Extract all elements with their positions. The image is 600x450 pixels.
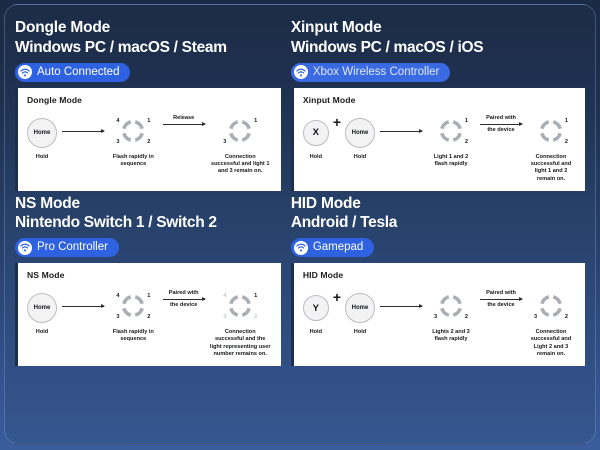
- app-frame: Dongle ModeWindows PC / macOS / SteamAut…: [4, 4, 596, 444]
- step-led-ring: 23Connection successful and Light 2 and …: [527, 290, 575, 359]
- wifi-icon: [294, 65, 308, 79]
- arrow-line: [480, 124, 522, 125]
- step-arrow: Paired withthe device: [478, 290, 524, 309]
- step-caption: Hold: [310, 154, 322, 161]
- panel-subtitle: Windows PC / macOS / iOS: [291, 38, 585, 57]
- step-sequence: HomeHold1234Flash rapidly in sequencePai…: [27, 290, 275, 359]
- connection-badge[interactable]: Gamepad: [291, 238, 375, 257]
- step-caption: Connection successful and the light repr…: [210, 329, 271, 359]
- connection-badge[interactable]: Pro Controller: [15, 238, 119, 257]
- diagram-card: Xinput ModeXHold+HomeHold12Light 1 and 2…: [291, 88, 585, 191]
- led-number-3: 3: [223, 140, 226, 146]
- mode-panel-hid: HID ModeAndroid / TeslaGamepadHID ModeYH…: [291, 195, 585, 367]
- step-caption: Hold: [310, 329, 322, 336]
- connection-badge[interactable]: Xbox Wireless Controller: [291, 63, 451, 82]
- arrow-label: Paired with: [486, 115, 516, 122]
- button-home-icon: Home: [27, 293, 57, 323]
- panel-subtitle: Windows PC / macOS / Steam: [15, 38, 281, 57]
- step-led-ring: 12Connection successful and light 1 and …: [527, 115, 575, 184]
- led-ring-icon: 13: [216, 116, 264, 150]
- panel-title: Xinput Mode: [291, 19, 585, 38]
- plus-separator: +: [333, 115, 341, 129]
- panel-subtitle: Nintendo Switch 1 / Switch 2: [15, 213, 281, 232]
- step-arrow: [378, 290, 424, 309]
- led-number-1: 1: [565, 119, 568, 125]
- step-led-ring: 1234Flash rapidly in sequence: [109, 290, 158, 344]
- step-caption: Hold: [36, 329, 48, 336]
- step-caption: Light 1 and 2 flash rapidly: [427, 154, 475, 169]
- led-number-3: 3: [223, 315, 226, 321]
- step-caption: Hold: [354, 154, 366, 161]
- badge-label: Xbox Wireless Controller: [313, 63, 440, 82]
- led-number-1: 1: [147, 119, 150, 125]
- arrow-label: the device: [487, 127, 514, 134]
- led-number-2: 2: [565, 315, 568, 321]
- panel-title: Dongle Mode: [15, 19, 281, 38]
- badge-label: Gamepad: [313, 238, 364, 257]
- step-caption: Hold: [354, 329, 366, 336]
- mode-panel-ns: NS ModeNintendo Switch 1 / Switch 2Pro C…: [15, 195, 281, 367]
- led-number-2: 2: [465, 315, 468, 321]
- arrow-label: Release: [173, 115, 194, 122]
- step-button: HomeHold: [345, 290, 375, 336]
- arrow-line: [62, 306, 104, 307]
- card-heading: Xinput Mode: [303, 95, 579, 105]
- panel-subtitle: Android / Tesla: [291, 213, 585, 232]
- step-arrow: [60, 115, 106, 134]
- arrow-label: the device: [487, 302, 514, 309]
- led-number-3: 3: [116, 315, 119, 321]
- led-ring-icon: 23: [527, 291, 575, 325]
- button-x-icon: X: [303, 120, 329, 146]
- connection-badge[interactable]: Auto Connected: [15, 63, 130, 82]
- diagram-card: HID ModeYHold+HomeHold23Lights 2 and 3 f…: [291, 263, 585, 366]
- led-number-4: 4: [116, 294, 119, 300]
- badge-label: Auto Connected: [37, 63, 119, 82]
- panel-title: HID Mode: [291, 195, 585, 214]
- wifi-icon: [18, 241, 32, 255]
- led-number-3: 3: [434, 315, 437, 321]
- led-ring-icon: 12: [427, 116, 475, 150]
- led-number-3: 3: [116, 140, 119, 146]
- step-arrow: Paired withthe device: [478, 115, 524, 134]
- button-home-icon: Home: [27, 118, 57, 148]
- step-button: XHold: [303, 115, 329, 161]
- step-button: YHold: [303, 290, 329, 336]
- led-number-2: 2: [565, 140, 568, 146]
- led-ring-icon: 1234: [109, 116, 157, 150]
- led-ring-icon: 1234: [216, 291, 264, 325]
- button-home-icon: Home: [345, 118, 375, 148]
- arrow-label: Paired with: [169, 290, 199, 297]
- arrow-line: [380, 131, 422, 132]
- step-arrow: Release: [161, 115, 207, 127]
- step-caption: Hold: [36, 154, 48, 161]
- step-sequence: HomeHold1234Flash rapidly in sequenceRel…: [27, 115, 275, 176]
- arrow-line: [380, 306, 422, 307]
- led-number-2: 2: [147, 140, 150, 146]
- button-home-icon: Home: [345, 293, 375, 323]
- arrow-line: [62, 131, 104, 132]
- step-button: HomeHold: [345, 115, 375, 161]
- led-ring-icon: 23: [427, 291, 475, 325]
- step-sequence: XHold+HomeHold12Light 1 and 2 flash rapi…: [303, 115, 579, 184]
- mode-panel-dongle: Dongle ModeWindows PC / macOS / SteamAut…: [15, 19, 281, 191]
- arrow-label: Paired with: [486, 290, 516, 297]
- step-led-ring: 1234Flash rapidly in sequence: [109, 115, 158, 169]
- mode-panel-grid: Dongle ModeWindows PC / macOS / SteamAut…: [5, 5, 595, 366]
- button-y-icon: Y: [303, 295, 329, 321]
- arrow-line: [163, 124, 205, 125]
- step-led-ring: 1234Connection successful and the light …: [210, 290, 271, 359]
- led-number-1: 1: [254, 294, 257, 300]
- step-arrow: [378, 115, 424, 134]
- step-led-ring: 23Lights 2 and 3 flash rapidly: [427, 290, 475, 344]
- mode-panel-xinput: Xinput ModeWindows PC / macOS / iOSXbox …: [291, 19, 585, 191]
- led-number-2: 2: [254, 315, 257, 321]
- diagram-card: Dongle ModeHomeHold1234Flash rapidly in …: [15, 88, 281, 191]
- diagram-card: NS ModeHomeHold1234Flash rapidly in sequ…: [15, 263, 281, 366]
- step-led-ring: 13Connection successful and light 1 and …: [210, 115, 271, 176]
- led-number-1: 1: [465, 119, 468, 125]
- step-led-ring: 12Light 1 and 2 flash rapidly: [427, 115, 475, 169]
- arrow-label: the device: [170, 302, 197, 309]
- step-button: HomeHold: [27, 115, 57, 161]
- step-caption: Connection successful and Light 2 and 3 …: [527, 329, 575, 359]
- card-heading: Dongle Mode: [27, 95, 275, 105]
- badge-label: Pro Controller: [37, 238, 108, 257]
- wifi-icon: [294, 241, 308, 255]
- step-caption: Connection successful and light 1 and 2 …: [527, 154, 575, 184]
- wifi-icon: [18, 65, 32, 79]
- step-caption: Connection successful and light 1 and 3 …: [210, 154, 271, 176]
- card-heading: HID Mode: [303, 270, 579, 280]
- card-heading: NS Mode: [27, 270, 275, 280]
- step-button: HomeHold: [27, 290, 57, 336]
- arrow-line: [163, 299, 205, 300]
- panel-title: NS Mode: [15, 195, 281, 214]
- step-arrow: [60, 290, 106, 309]
- led-number-2: 2: [147, 315, 150, 321]
- led-number-4: 4: [223, 294, 226, 300]
- step-caption: Lights 2 and 3 flash rapidly: [427, 329, 475, 344]
- led-number-2: 2: [465, 140, 468, 146]
- step-caption: Flash rapidly in sequence: [109, 329, 158, 344]
- led-ring-icon: 12: [527, 116, 575, 150]
- step-arrow: Paired withthe device: [161, 290, 207, 309]
- led-number-4: 4: [116, 119, 119, 125]
- led-number-3: 3: [534, 315, 537, 321]
- led-number-1: 1: [147, 294, 150, 300]
- plus-separator: +: [333, 290, 341, 304]
- step-sequence: YHold+HomeHold23Lights 2 and 3 flash rap…: [303, 290, 579, 359]
- led-number-1: 1: [254, 119, 257, 125]
- step-caption: Flash rapidly in sequence: [109, 154, 158, 169]
- led-ring-icon: 1234: [109, 291, 157, 325]
- arrow-line: [480, 299, 522, 300]
